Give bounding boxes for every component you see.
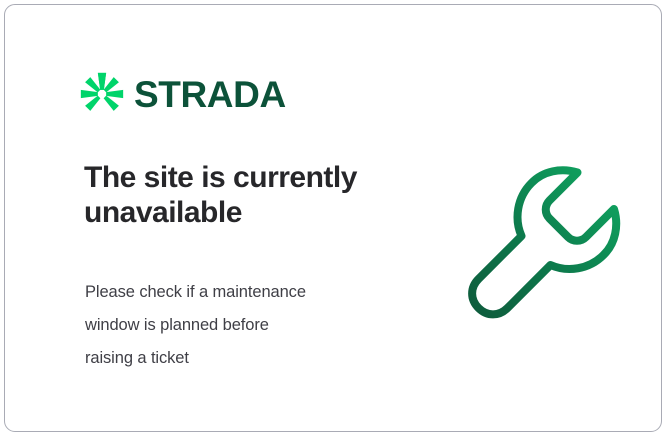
- status-description: Please check if a maintenance window is …: [85, 276, 405, 375]
- wrench-icon: [457, 155, 625, 323]
- brand-logo: STRADA: [79, 71, 286, 117]
- description-line: window is planned before: [85, 309, 405, 342]
- description-line: Please check if a maintenance: [85, 276, 405, 309]
- status-card: STRADA The site is currently unavailable…: [4, 4, 662, 432]
- page-root: STRADA The site is currently unavailable…: [0, 0, 666, 436]
- page-title: The site is currently unavailable: [84, 160, 424, 230]
- brand-wordmark: STRADA: [134, 76, 286, 113]
- description-line: raising a ticket: [85, 342, 405, 375]
- asterisk-starburst-icon: [79, 71, 125, 117]
